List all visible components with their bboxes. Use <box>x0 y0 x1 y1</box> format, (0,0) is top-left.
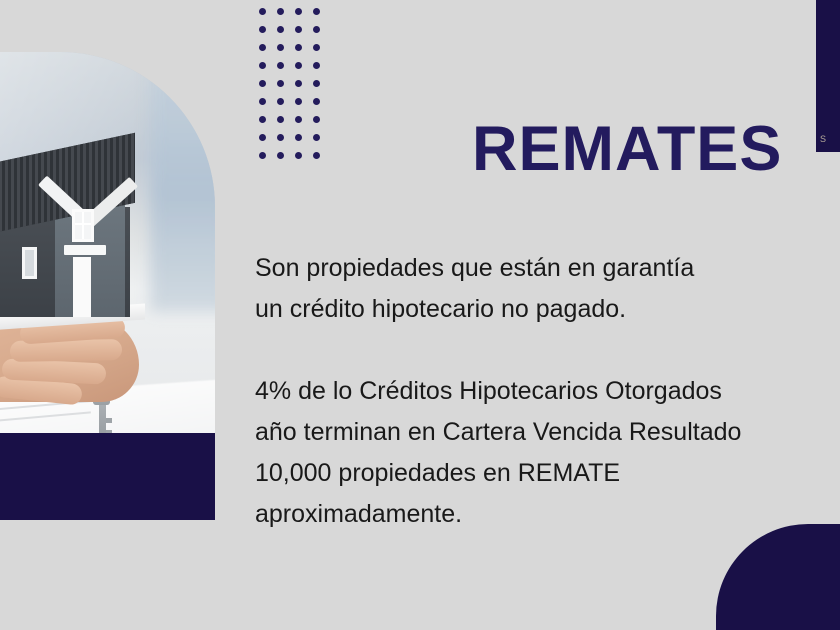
photo-background-band <box>150 52 215 312</box>
hero-photo: HOME <box>0 52 215 433</box>
body-line: 4% de lo Créditos Hipotecarios Otorgados <box>255 371 840 412</box>
body-line: aproximadamente. <box>255 494 840 535</box>
grid-dot <box>259 62 266 69</box>
house-attic-window <box>72 209 94 242</box>
grid-dot <box>295 44 302 51</box>
navy-accent-block-left <box>0 433 215 520</box>
grid-dot <box>277 134 284 141</box>
grid-dot <box>259 8 266 15</box>
grid-dot <box>259 134 266 141</box>
grid-dot <box>313 26 320 33</box>
grid-dot <box>295 80 302 87</box>
grid-dot <box>313 80 320 87</box>
body-line: 10,000 propiedades en REMATE <box>255 453 840 494</box>
grid-dot <box>277 62 284 69</box>
grid-dot <box>259 116 266 123</box>
grid-dot <box>277 152 284 159</box>
grid-dot <box>313 62 320 69</box>
grid-dot <box>295 134 302 141</box>
house-canopy <box>64 245 106 255</box>
grid-dot <box>277 26 284 33</box>
grid-dot <box>259 152 266 159</box>
grid-dot <box>313 116 320 123</box>
page-title: REMATES <box>472 118 782 181</box>
body-line: año terminan en Cartera Vencida Resultad… <box>255 412 840 453</box>
grid-dot <box>259 44 266 51</box>
grid-dot <box>259 26 266 33</box>
navy-accent-shape-bottom-right <box>716 524 840 630</box>
grid-dot <box>295 8 302 15</box>
paragraph-spacer <box>255 330 840 371</box>
grid-dot <box>295 116 302 123</box>
navy-accent-bar-right: S <box>816 0 840 152</box>
house-window <box>22 247 37 279</box>
grid-dot <box>295 26 302 33</box>
grid-dot <box>259 98 266 105</box>
dot-grid-decoration <box>253 2 325 164</box>
grid-dot <box>313 98 320 105</box>
grid-dot <box>313 152 320 159</box>
grid-dot <box>277 98 284 105</box>
grid-dot <box>259 80 266 87</box>
photo-illustration: HOME <box>0 52 215 433</box>
grid-dot <box>295 62 302 69</box>
grid-dot <box>277 44 284 51</box>
grid-dot <box>295 152 302 159</box>
grid-dot <box>313 44 320 51</box>
body-text: Son propiedades que están en garantía un… <box>255 248 840 535</box>
grid-dot <box>277 116 284 123</box>
navy-bar-mark: S <box>820 135 826 144</box>
slide-canvas: HOME <box>0 0 840 630</box>
grid-dot <box>313 134 320 141</box>
grid-dot <box>277 8 284 15</box>
grid-dot <box>277 80 284 87</box>
grid-dot <box>295 98 302 105</box>
body-line: Son propiedades que están en garantía <box>255 248 840 289</box>
key-tooth <box>106 418 112 423</box>
grid-dot <box>313 8 320 15</box>
house-door <box>73 257 91 317</box>
body-line: un crédito hipotecario no pagado. <box>255 289 840 330</box>
